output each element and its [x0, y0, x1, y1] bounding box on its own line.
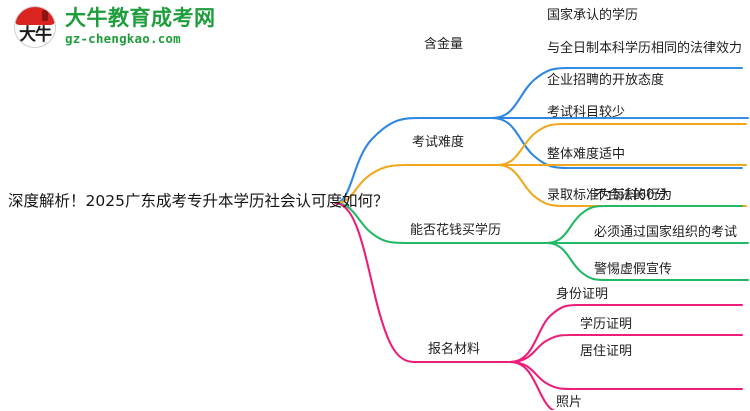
leaf-node-1-3[interactable]: 企业招聘的开放态度 [547, 72, 664, 89]
branch-node-3[interactable]: 能否花钱买学历 [410, 222, 501, 239]
leaf-node-1-2[interactable]: 与全日制本科学历相同的法律效力 [547, 40, 742, 57]
leaf-node-4-2[interactable]: 学历证明 [580, 316, 632, 333]
logo-title: 大牛教育成考网 [65, 8, 216, 29]
leaf-node-4-1[interactable]: 身份证明 [556, 286, 608, 303]
link-branch-4-child-2 [510, 335, 572, 362]
leaf-node-2-2[interactable]: 整体难度适中 [547, 146, 625, 163]
leaf-node-3-2[interactable]: 必须通过国家组织的考试 [594, 224, 737, 241]
branch-node-2[interactable]: 考试难度 [412, 134, 464, 151]
link-branch-4-child-1 [510, 305, 578, 362]
leaf-node-4-4[interactable]: 照片 [556, 394, 582, 411]
logo-cap-shape [15, 7, 55, 25]
mindmap-canvas: 大牛 大牛教育成考网 gz-chengkao.com [0, 0, 750, 410]
leaf-node-1-1[interactable]: 国家承认的学历 [547, 7, 638, 24]
logo-mark-icon: 大牛 [14, 6, 56, 48]
leaf-node-2-1[interactable]: 考试科目较少 [547, 104, 625, 121]
site-logo[interactable]: 大牛 大牛教育成考网 gz-chengkao.com [14, 6, 216, 48]
logo-domain: gz-chengkao.com [65, 33, 216, 46]
leaf-node-3-3[interactable]: 警惕虚假宣传 [594, 261, 672, 278]
leaf-node-4-3[interactable]: 居住证明 [580, 343, 632, 360]
leaf-node-3-1[interactable]: 不合法的行为 [594, 187, 672, 204]
branch-node-1[interactable]: 含金量 [424, 36, 463, 53]
branch-node-4[interactable]: 报名材料 [428, 341, 480, 358]
root-node[interactable]: 深度解析！2025广东成考专升本学历社会认可度如何？ [8, 191, 388, 211]
logo-text-block: 大牛教育成考网 gz-chengkao.com [65, 8, 216, 46]
link-root-to-branch-4 [335, 203, 414, 362]
link-branch-4-child-3 [510, 362, 572, 389]
